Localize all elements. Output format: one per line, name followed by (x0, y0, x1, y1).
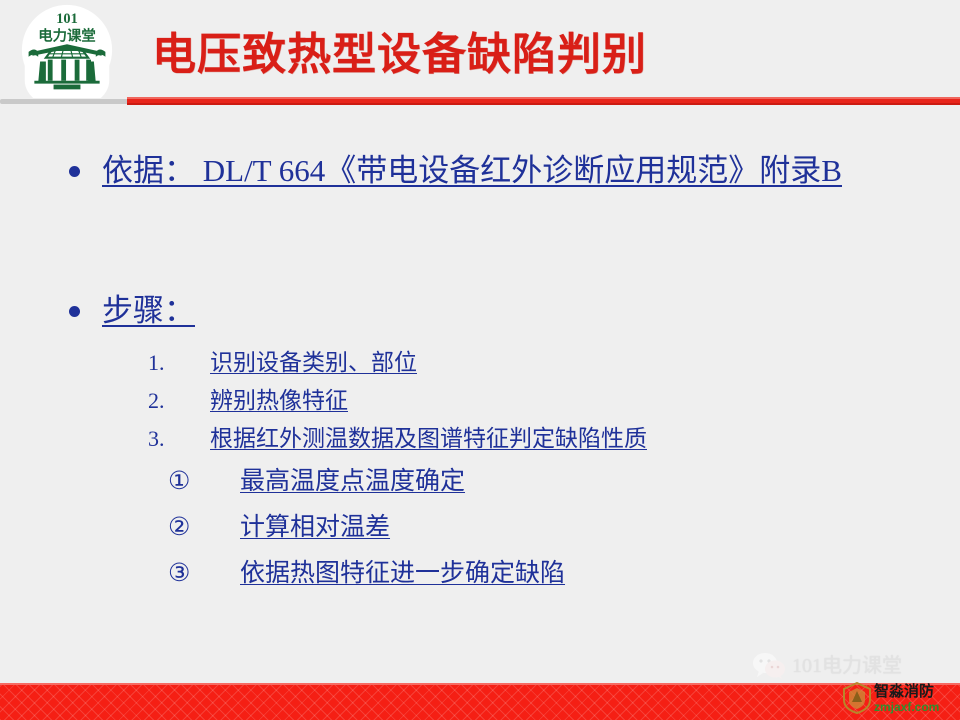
slide-content: 依据： DL/T 664《带电设备红外诊断应用规范》附录B 步骤： 1. 识别设… (0, 118, 960, 658)
list-marker: 1. (148, 346, 210, 380)
watermark-text: 智淼消防 zmjaxf.com (874, 684, 939, 713)
bullet-text-source: 依据： DL/T 664《带电设备红外诊断应用规范》附录B (102, 148, 842, 194)
list-marker: 2. (148, 384, 210, 418)
watermark-url: zmjaxf.com (874, 701, 939, 713)
list-marker: ② (168, 508, 240, 547)
svg-text:电力课堂: 电力课堂 (38, 26, 96, 44)
bullet-text-steps: 步骤： (102, 288, 195, 334)
list-label: 计算相对温差 (240, 508, 390, 547)
list-label: 最高温度点温度确定 (240, 462, 465, 501)
list-label: 识别设备类别、部位 (210, 346, 417, 380)
logo-emblem-icon: 101 电力课堂 (18, 2, 116, 98)
header-rule-gray (0, 99, 128, 104)
bullet-item-steps: 步骤： (46, 288, 960, 334)
header-rule-red (127, 97, 960, 105)
svg-text:101: 101 (56, 11, 78, 27)
list-label: 辨别热像特征 (210, 384, 348, 418)
circled-substep-list: ① 最高温度点温度确定 ② 计算相对温差 ③ 依据热图特征进一步确定缺陷 (168, 462, 960, 593)
slide: 101 电力课堂 电压致热型设备缺陷判别 (0, 0, 960, 720)
list-marker: 3. (148, 422, 210, 456)
numbered-step-list: 1. 识别设备类别、部位 2. 辨别热像特征 3. 根据红外测温数据及图谱特征判… (148, 346, 960, 456)
list-label: 依据热图特征进一步确定缺陷 (240, 554, 565, 593)
wechat-watermark: 101电力课堂 (752, 652, 902, 680)
bullet-item-source: 依据： DL/T 664《带电设备红外诊断应用规范》附录B (46, 148, 960, 194)
shield-icon (843, 682, 871, 714)
list-marker: ① (168, 462, 240, 501)
list-item: ③ 依据热图特征进一步确定缺陷 (168, 554, 960, 593)
zhimiao-watermark: 智淼消防 zmjaxf.com (843, 679, 958, 717)
bullet-marker-icon (46, 288, 102, 334)
footer-red-bar (0, 683, 960, 720)
list-item: ② 计算相对温差 (168, 508, 960, 547)
wechat-label: 101电力课堂 (792, 654, 902, 678)
list-item: 1. 识别设备类别、部位 (148, 346, 960, 380)
list-item: 2. 辨别热像特征 (148, 384, 960, 418)
list-marker: ③ (168, 554, 240, 593)
list-item: 3. 根据红外测温数据及图谱特征判定缺陷性质 (148, 422, 960, 456)
slide-header: 101 电力课堂 电压致热型设备缺陷判别 (0, 0, 960, 108)
bullet-marker-icon (46, 148, 102, 194)
list-item: ① 最高温度点温度确定 (168, 462, 960, 501)
watermark-title: 智淼消防 (874, 684, 939, 699)
wechat-icon (752, 652, 786, 680)
page-title: 电压致热型设备缺陷判别 (152, 26, 647, 84)
list-label: 根据红外测温数据及图谱特征判定缺陷性质 (210, 422, 647, 456)
